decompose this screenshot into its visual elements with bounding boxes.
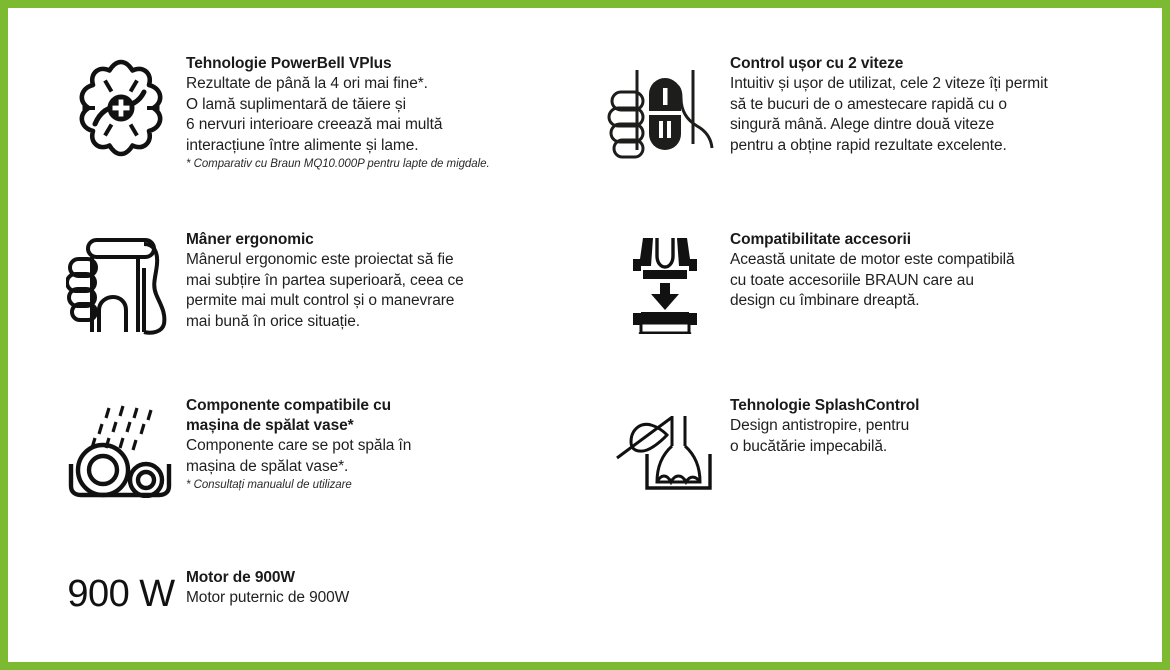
body-line: cu toate accesoriile BRAUN care au [730,271,1120,292]
hand-two-speed-buttons-icon [607,56,723,160]
hand-gripping-handle-icon [66,232,176,336]
body-line: Design antistropire, pentru [730,416,1120,437]
900w-text-icon: 900 W [67,574,174,614]
icon-cell-dishwasher [56,396,186,498]
body-line: Rezultate de până la 4 ori mai fine*. [186,74,576,95]
feature-title: Compatibilitate accesorii [730,230,1120,250]
icon-cell-splash [600,396,730,498]
body-line: interacțiune între alimente și lame. [186,136,576,157]
body-line: o bucătărie impecabilă. [730,437,1120,458]
feature-footnote: * Comparativ cu Braun MQ10.000P pentru l… [186,157,576,172]
feature-powerbell: Tehnologie PowerBell VPlus Rezultate de … [56,54,576,172]
body-line: Componente care se pot spăla în [186,436,576,457]
feature-title: Control ușor cu 2 viteze [730,54,1120,74]
title-line: Componente compatibile cu [186,396,576,416]
feature-grid: Tehnologie PowerBell VPlus Rezultate de … [8,8,1162,662]
text-cell-splash: Tehnologie SplashControl Design antistro… [730,396,1120,457]
splash-control-no-splash-icon [609,402,721,498]
icon-cell-motor: 900 W [56,568,186,614]
feature-title: Motor de 900W [186,568,576,588]
accessory-attach-arrow-icon [613,234,717,334]
powerbell-blade-icon [69,56,173,160]
body-line: design cu îmbinare dreaptă. [730,291,1120,312]
body-line: pentru a obține rapid rezultate excelent… [730,136,1120,157]
dishwasher-safe-icon [65,402,177,498]
body-line: permite mai mult control și o manevrare [186,291,576,312]
icon-cell-two-speed [600,54,730,160]
body-line: O lamă suplimentară de tăiere și [186,95,576,116]
feature-title: Mâner ergonomic [186,230,576,250]
body-line: Motor puternic de 900W [186,588,576,609]
text-cell-handle: Mâner ergonomic Mânerul ergonomic este p… [186,230,576,332]
text-cell-motor: Motor de 900W Motor puternic de 900W [186,568,576,609]
body-line: mai bună în orice situație. [186,312,576,333]
body-line: 6 nervuri interioare creează mai multă [186,115,576,136]
body-line: mai subțire în partea superioară, ceea c… [186,271,576,292]
body-line: Mânerul ergonomic este proiectat să fie [186,250,576,271]
title-line: mașina de spălat vase* [186,416,576,436]
feature-ergonomic-handle: Mâner ergonomic Mânerul ergonomic este p… [56,230,576,336]
icon-cell-accessory [600,230,730,334]
feature-splash-control: Tehnologie SplashControl Design antistro… [600,396,1120,498]
feature-body: Design antistropire, pentru o bucătărie … [730,416,1120,457]
text-cell-dishwasher: Componente compatibile cu mașina de spăl… [186,396,576,493]
text-cell-powerbell: Tehnologie PowerBell VPlus Rezultate de … [186,54,576,172]
feature-dishwasher-safe: Componente compatibile cu mașina de spăl… [56,396,576,498]
feature-two-speed-control: Control ușor cu 2 viteze Intuitiv și ușo… [600,54,1120,160]
product-feature-panel: Tehnologie PowerBell VPlus Rezultate de … [0,0,1170,670]
feature-motor-900w: 900 W Motor de 900W Motor puternic de 90… [56,568,576,614]
feature-body: Această unitate de motor este compatibil… [730,250,1120,312]
body-line: singură mână. Alege dintre două viteze [730,115,1120,136]
feature-body: Intuitiv și ușor de utilizat, cele 2 vit… [730,74,1120,156]
icon-cell-powerbell [56,54,186,160]
feature-body: Motor puternic de 900W [186,588,576,609]
feature-title: Componente compatibile cu mașina de spăl… [186,396,576,436]
body-line: Intuitiv și ușor de utilizat, cele 2 vit… [730,74,1120,95]
feature-accessory-compatibility: Compatibilitate accesorii Această unitat… [600,230,1120,334]
body-line: Această unitate de motor este compatibil… [730,250,1120,271]
feature-body: Mânerul ergonomic este proiectat să fie … [186,250,576,332]
icon-cell-handle [56,230,186,336]
feature-body: Componente care se pot spăla în mașina d… [186,436,576,477]
body-line: să te bucuri de o amestecare rapidă cu o [730,95,1120,116]
text-cell-two-speed: Control ușor cu 2 viteze Intuitiv și ușo… [730,54,1120,156]
feature-title: Tehnologie PowerBell VPlus [186,54,576,74]
body-line: mașina de spălat vase*. [186,457,576,478]
feature-title: Tehnologie SplashControl [730,396,1120,416]
feature-body: Rezultate de până la 4 ori mai fine*. O … [186,74,576,156]
feature-footnote: * Consultați manualul de utilizare [186,478,576,493]
text-cell-accessory: Compatibilitate accesorii Această unitat… [730,230,1120,312]
